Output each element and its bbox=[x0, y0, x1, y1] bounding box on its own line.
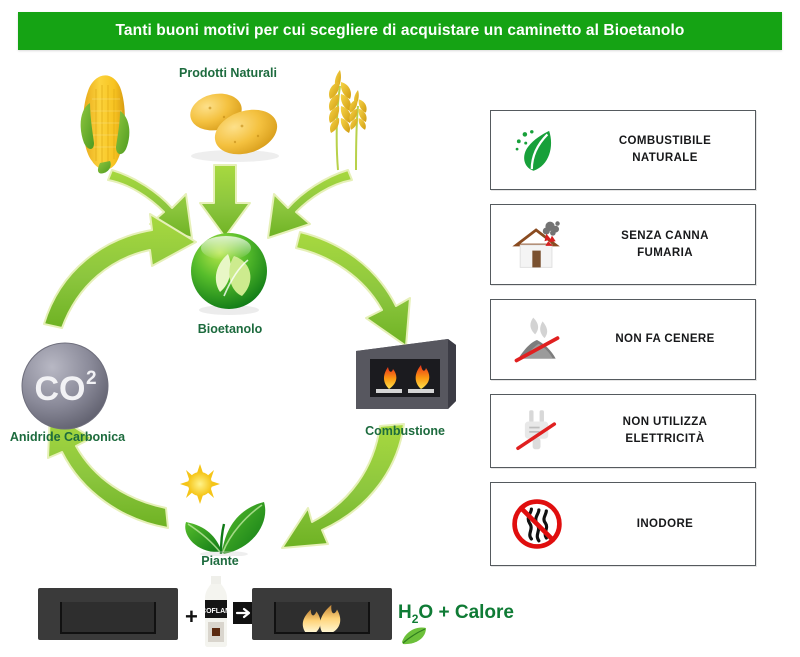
co2-sphere-icon: CO 2 bbox=[18, 340, 112, 434]
fireplace-empty-icon bbox=[38, 588, 178, 640]
no-odor-icon bbox=[491, 483, 583, 565]
feature-item-non-fa-cenere[interactable]: NON FA CENERE bbox=[490, 299, 756, 380]
fireplace-burning-icon bbox=[348, 335, 460, 419]
ecoflame-bottle-icon: ECOFLAME bbox=[202, 576, 230, 648]
feature-label: COMBUSTIBILE NATURALE bbox=[583, 133, 755, 166]
fireplace-lit-inner bbox=[274, 602, 370, 634]
benefits-list: COMBUSTIBILE NATURALE SENZA CANNA F bbox=[490, 110, 756, 580]
small-leaf-icon bbox=[400, 626, 428, 646]
house-no-chimney-icon bbox=[491, 205, 583, 284]
potatoes-icon bbox=[180, 84, 290, 164]
feature-item-senza-canna-fumaria[interactable]: SENZA CANNA FUMARIA bbox=[490, 204, 756, 285]
no-electricity-plug-icon bbox=[491, 395, 583, 467]
label-anidride-carbonica: Anidride Carbonica bbox=[5, 430, 130, 444]
feature-item-combustibile-naturale[interactable]: COMBUSTIBILE NATURALE bbox=[490, 110, 756, 190]
feature-label: SENZA CANNA FUMARIA bbox=[583, 228, 755, 261]
plus-sign: + bbox=[185, 604, 198, 630]
header-banner: Tanti buoni motivi per cui scegliere di … bbox=[18, 12, 782, 50]
feature-label: NON FA CENERE bbox=[583, 331, 755, 348]
result-label: H2O + Calore bbox=[398, 602, 514, 626]
bioethanol-cycle-diagram: Prodotti Naturali Bioetanolo bbox=[0, 52, 470, 582]
result-rest: O + Calore bbox=[418, 602, 514, 623]
label-piante: Piante bbox=[170, 554, 270, 568]
bottle-label-text: ECOFLAME bbox=[202, 608, 230, 615]
feature-item-inodore[interactable]: INODORE bbox=[490, 482, 756, 566]
label-prodotti-naturali: Prodotti Naturali bbox=[118, 66, 338, 80]
sprout-leaves-icon bbox=[168, 464, 276, 556]
result-h: H bbox=[398, 602, 412, 623]
feature-item-non-utilizza-elettricita[interactable]: NON UTILIZZA ELETTRICITÀ bbox=[490, 394, 756, 468]
svg-text:2: 2 bbox=[86, 368, 97, 389]
feature-label: INODORE bbox=[583, 516, 755, 533]
feature-label: NON UTILIZZA ELETTRICITÀ bbox=[583, 414, 755, 447]
bioethanol-leaf-sphere-icon bbox=[186, 230, 272, 316]
no-ash-icon bbox=[491, 300, 583, 379]
corn-icon bbox=[78, 65, 132, 175]
page-title: Tanti buoni motivi per cui scegliere di … bbox=[116, 22, 685, 40]
sun-icon bbox=[180, 464, 220, 504]
svg-text:CO: CO bbox=[35, 370, 86, 408]
label-combustione: Combustione bbox=[345, 424, 465, 438]
fireplace-empty-inner bbox=[60, 602, 156, 634]
label-bioetanolo: Bioetanolo bbox=[155, 322, 305, 336]
fireplace-lit-icon bbox=[252, 588, 392, 640]
leaf-natural-icon bbox=[491, 111, 583, 189]
process-equation-row: + ECOFLAME H2O + bbox=[30, 578, 480, 648]
